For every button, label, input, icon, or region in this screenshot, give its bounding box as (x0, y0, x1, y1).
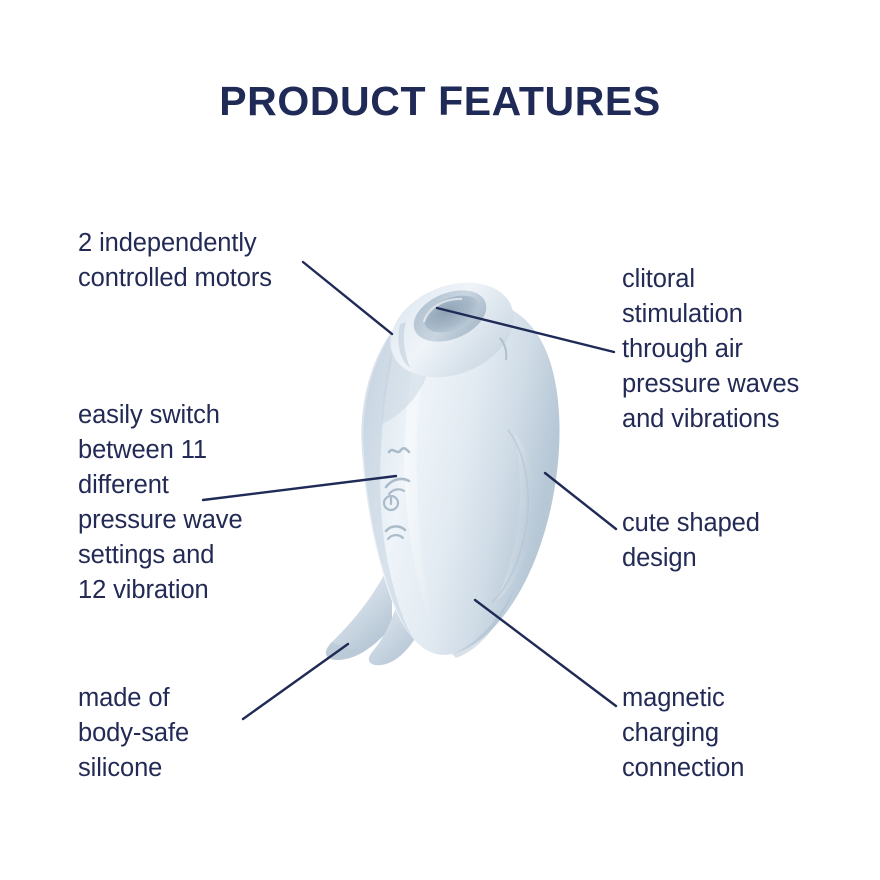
leader-motors (303, 262, 392, 334)
product-features-infographic: PRODUCT FEATURES (0, 0, 880, 880)
leader-clitoral (437, 308, 614, 352)
leader-silicone (243, 644, 348, 719)
leader-cute (545, 473, 616, 529)
feature-label-switch-settings: easily switch between 11 different press… (78, 398, 243, 608)
feature-label-motors: 2 independently controlled motors (78, 226, 272, 296)
feature-label-magnetic-charging: magnetic charging connection (622, 681, 744, 786)
leader-magnetic (475, 600, 616, 706)
feature-label-clitoral-stimulation: clitoral stimulation through air pressur… (622, 262, 799, 437)
feature-label-cute-design: cute shaped design (622, 506, 760, 576)
feature-label-silicone: made of body-safe silicone (78, 681, 189, 786)
